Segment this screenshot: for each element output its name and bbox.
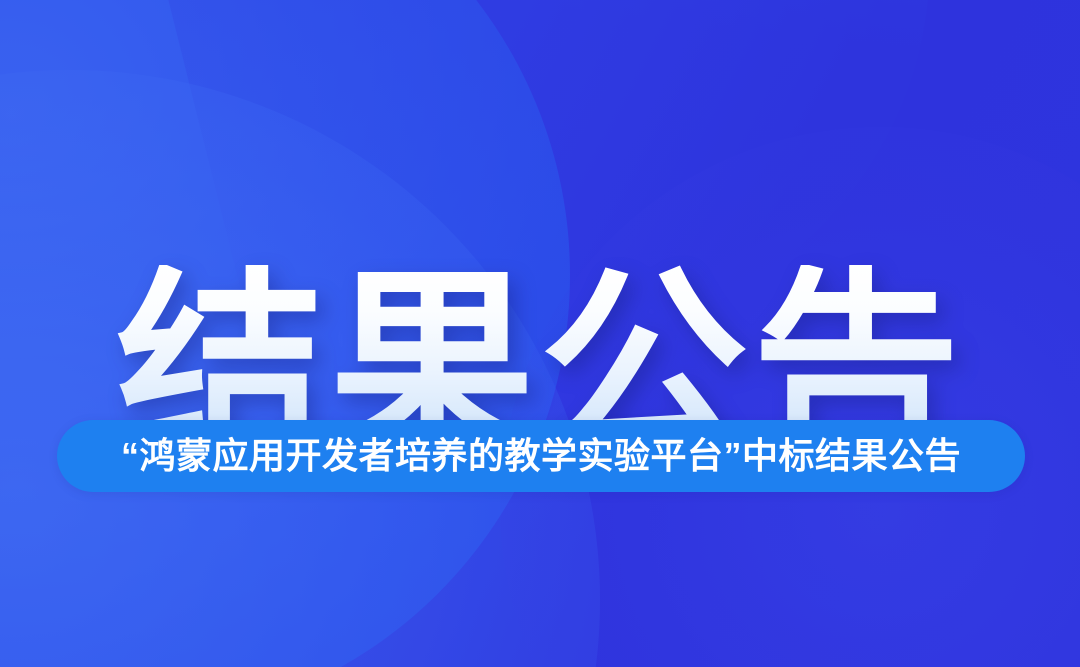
subtitle-text: “鸿蒙应用开发者培养的教学实验平台”中标结果公告 (121, 438, 961, 474)
announcement-banner: 结果公告 “鸿蒙应用开发者培养的教学实验平台”中标结果公告 (0, 0, 1080, 667)
subtitle-pill: “鸿蒙应用开发者培养的教学实验平台”中标结果公告 (57, 420, 1025, 492)
banner-content: 结果公告 “鸿蒙应用开发者培养的教学实验平台”中标结果公告 (0, 0, 1080, 667)
